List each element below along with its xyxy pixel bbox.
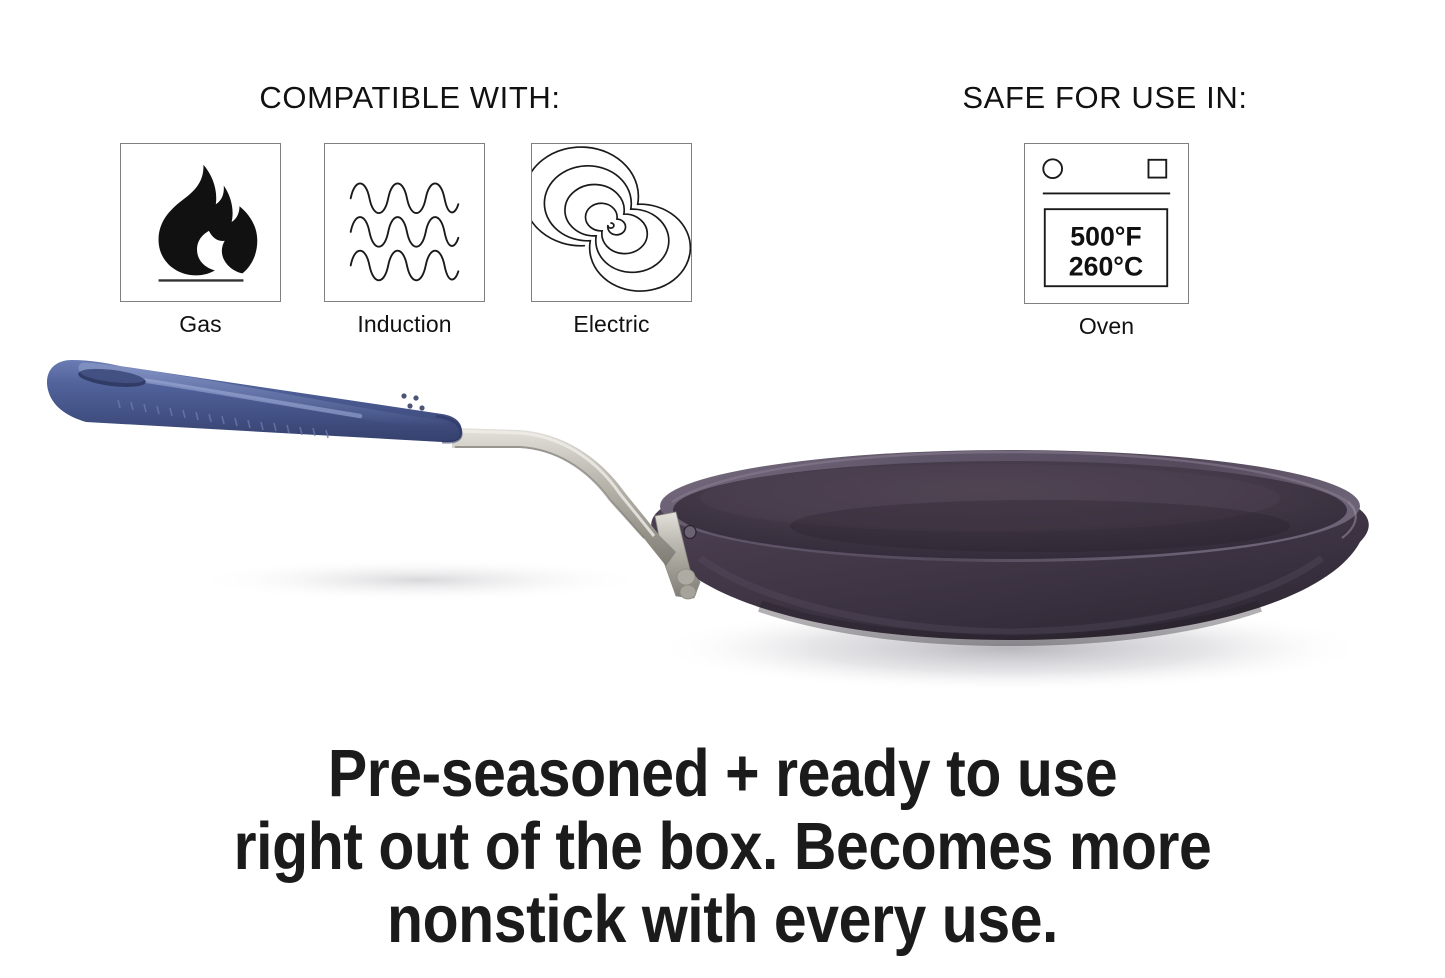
electric-coil-icon [532,144,691,301]
gas-flame-icon [121,144,280,301]
oven-icon: 500°F 260°C [1025,144,1188,303]
rivet-pan [684,526,696,539]
induction-waves-icon [325,144,484,301]
compatibility-item-induction: Induction [324,143,485,338]
headline-line-3: nonstick with every use. [87,883,1359,956]
handle-shadow [190,558,650,602]
handle-vent-dimples [401,393,424,410]
product-infographic: COMPATIBLE WITH: SAFE FOR USE IN: Gas In… [0,0,1445,978]
headline-line-1: Pre-seasoned + ready to use [87,737,1359,810]
gas-icon-box [120,143,281,302]
compatibility-item-electric: Electric [531,143,692,338]
frying-pan-photo [0,330,1445,730]
rivet-lower-2 [680,585,696,599]
oven-temp-celsius: 260°C [1069,251,1143,281]
headline-line-2: right out of the box. Becomes more [87,810,1359,883]
rivet-lower [677,569,695,585]
oven-temp-fahrenheit: 500°F [1070,222,1141,252]
compatibility-item-gas: Gas [120,143,281,338]
safe-for-use-in-heading: SAFE FOR USE IN: [880,80,1330,116]
frying-pan-illustration [0,330,1445,730]
electric-icon-box [531,143,692,302]
page-headline: Pre-seasoned + ready to use right out of… [87,737,1359,956]
compatible-with-heading: COMPATIBLE WITH: [0,80,820,116]
pan-handle-grip [47,360,462,442]
safe-for-use-item-oven: 500°F 260°C Oven [1024,143,1189,340]
pan-body [651,450,1369,640]
induction-icon-box [324,143,485,302]
oven-icon-box: 500°F 260°C [1024,143,1189,304]
